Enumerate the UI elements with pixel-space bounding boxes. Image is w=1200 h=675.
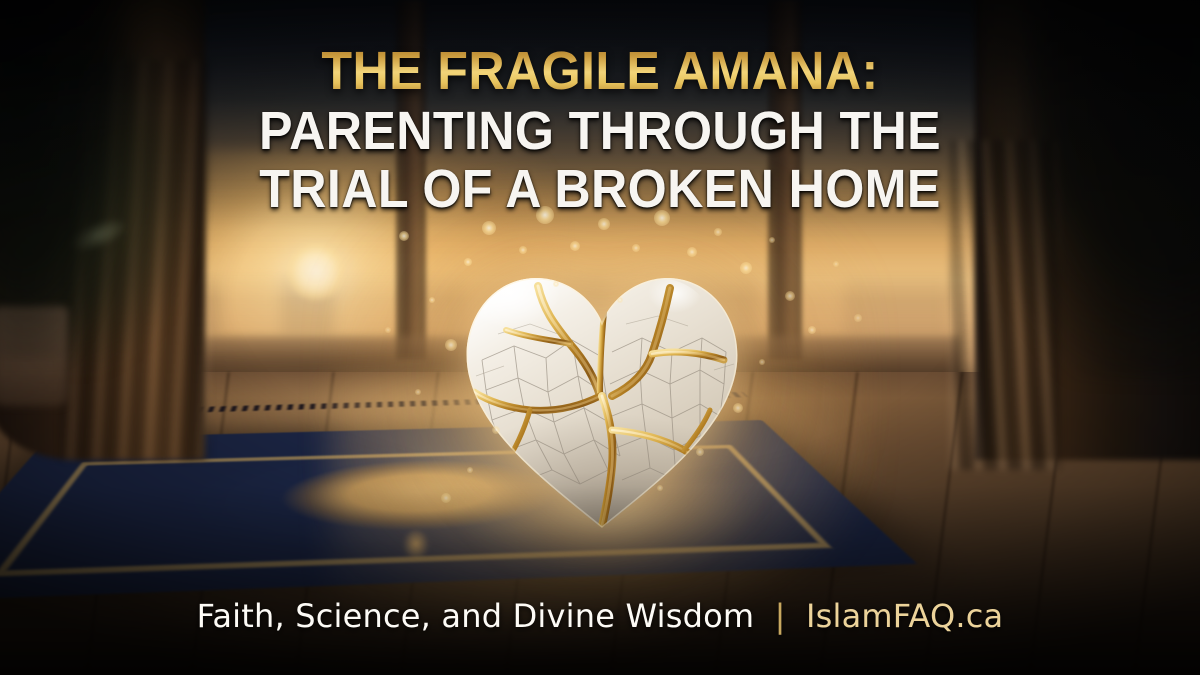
curtain-left-shadow: [0, 0, 130, 360]
broken-heart-centerpiece: [400, 210, 800, 550]
curtain-right-shadow: [980, 0, 1200, 380]
cracked-heart-icon: [452, 260, 752, 540]
promotional-banner: THE FRAGILE AMANA: PARENTING THROUGH THE…: [0, 0, 1200, 675]
